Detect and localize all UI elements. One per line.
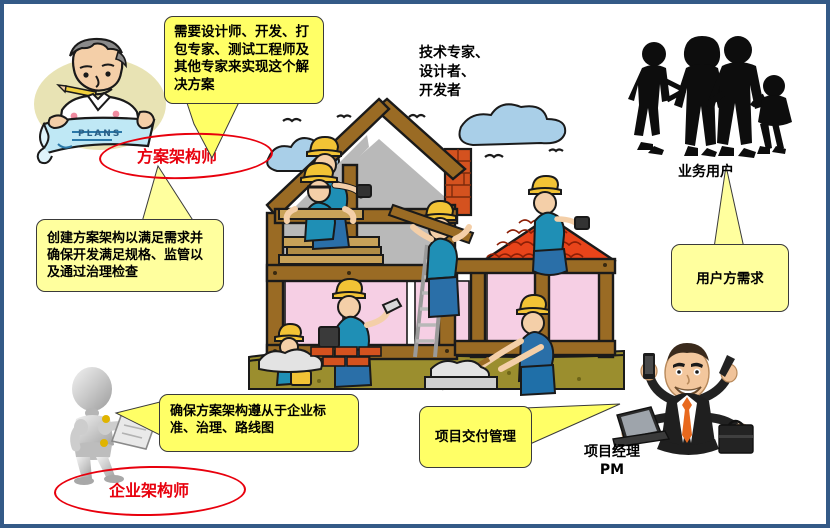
callout-conform-standards: 确保方案架构遵从于企业标准、治理、路线图 bbox=[159, 394, 359, 452]
callout-solution-need: 需要设计师、开发、打包专家、测试工程师及其他专家来实现这个解决方案 bbox=[164, 16, 324, 104]
diagram-canvas: PLANS bbox=[0, 0, 830, 528]
label-technical-experts: 技术专家、 设计者、 开发者 bbox=[419, 44, 489, 101]
label-technical-experts-line3: 开发者 bbox=[419, 82, 489, 101]
label-project-manager-abbr: PM bbox=[584, 462, 640, 480]
plans-text: PLANS bbox=[78, 129, 121, 139]
callout-user-requirements: 用户方需求 bbox=[671, 244, 789, 312]
label-business-users: 业务用户 bbox=[678, 161, 734, 181]
callout-create-architecture: 创建方案架构以满足需求并确保开发满足规格、监管以及通过治理检查 bbox=[36, 219, 224, 292]
label-technical-experts-line1: 技术专家、 bbox=[419, 44, 489, 63]
family-silhouette-illustration bbox=[622, 30, 792, 158]
label-project-manager-cn: 项目经理 bbox=[584, 444, 640, 462]
label-project-manager: 项目经理 PM bbox=[584, 444, 640, 479]
callout-project-delivery: 项目交付管理 bbox=[419, 406, 532, 468]
label-technical-experts-line2: 设计者、 bbox=[419, 63, 489, 82]
house-under-construction-illustration bbox=[249, 89, 624, 389]
